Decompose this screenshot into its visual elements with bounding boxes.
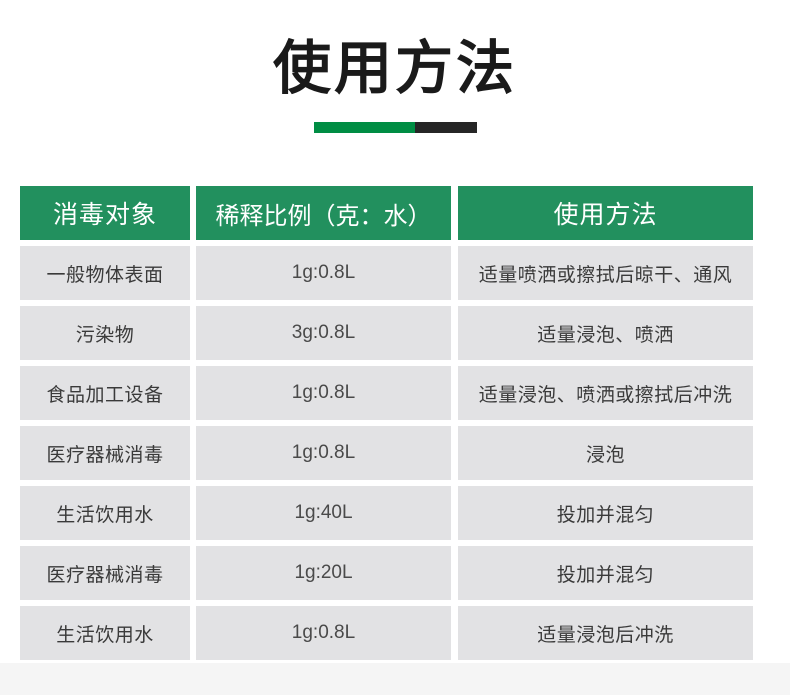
table-row: 生活饮用水 1g:40L 投加并混匀 — [20, 486, 753, 540]
title-underline-green-segment — [314, 122, 415, 133]
product-usage-page: 使用方法 消毒对象 稀释比例（克：水） 使用方法 一般物体表面 1g:0.8L … — [0, 0, 790, 695]
cell-usage-method: 浸泡 — [458, 426, 753, 480]
table-row: 医疗器械消毒 1g:20L 投加并混匀 — [20, 546, 753, 600]
table-row: 医疗器械消毒 1g:0.8L 浸泡 — [20, 426, 753, 480]
table-row: 生活饮用水 1g:0.8L 适量浸泡后冲洗 — [20, 606, 753, 660]
cell-disinfection-target: 医疗器械消毒 — [20, 426, 190, 480]
cell-dilution-ratio: 3g:0.8L — [196, 306, 451, 360]
page-title: 使用方法 — [0, 34, 790, 104]
cell-usage-method: 投加并混匀 — [458, 546, 753, 600]
cell-usage-method: 适量浸泡后冲洗 — [458, 606, 753, 660]
table-header-row: 消毒对象 稀释比例（克：水） 使用方法 — [20, 186, 753, 240]
table-row: 污染物 3g:0.8L 适量浸泡、喷洒 — [20, 306, 753, 360]
table-row: 食品加工设备 1g:0.8L 适量浸泡、喷洒或擦拭后冲洗 — [20, 366, 753, 420]
cell-dilution-ratio: 1g:0.8L — [196, 606, 451, 660]
table-row: 一般物体表面 1g:0.8L 适量喷洒或擦拭后晾干、通风 — [20, 246, 753, 300]
title-underline — [314, 122, 477, 133]
cell-usage-method: 适量喷洒或擦拭后晾干、通风 — [458, 246, 753, 300]
cell-dilution-ratio: 1g:0.8L — [196, 426, 451, 480]
title-underline-dark-segment — [415, 122, 477, 133]
title-block: 使用方法 — [0, 0, 790, 133]
bottom-band — [0, 663, 790, 695]
cell-disinfection-target: 医疗器械消毒 — [20, 546, 190, 600]
cell-usage-method: 适量浸泡、喷洒 — [458, 306, 753, 360]
cell-disinfection-target: 污染物 — [20, 306, 190, 360]
column-header-dilution-ratio: 稀释比例（克：水） — [196, 186, 451, 240]
cell-dilution-ratio: 1g:0.8L — [196, 246, 451, 300]
column-header-usage-method: 使用方法 — [458, 186, 753, 240]
cell-usage-method: 适量浸泡、喷洒或擦拭后冲洗 — [458, 366, 753, 420]
cell-usage-method: 投加并混匀 — [458, 486, 753, 540]
column-header-disinfection-target: 消毒对象 — [20, 186, 190, 240]
cell-disinfection-target: 生活饮用水 — [20, 606, 190, 660]
cell-dilution-ratio: 1g:0.8L — [196, 366, 451, 420]
cell-disinfection-target: 食品加工设备 — [20, 366, 190, 420]
cell-dilution-ratio: 1g:40L — [196, 486, 451, 540]
cell-disinfection-target: 一般物体表面 — [20, 246, 190, 300]
cell-disinfection-target: 生活饮用水 — [20, 486, 190, 540]
usage-table: 消毒对象 稀释比例（克：水） 使用方法 一般物体表面 1g:0.8L 适量喷洒或… — [20, 186, 753, 660]
cell-dilution-ratio: 1g:20L — [196, 546, 451, 600]
